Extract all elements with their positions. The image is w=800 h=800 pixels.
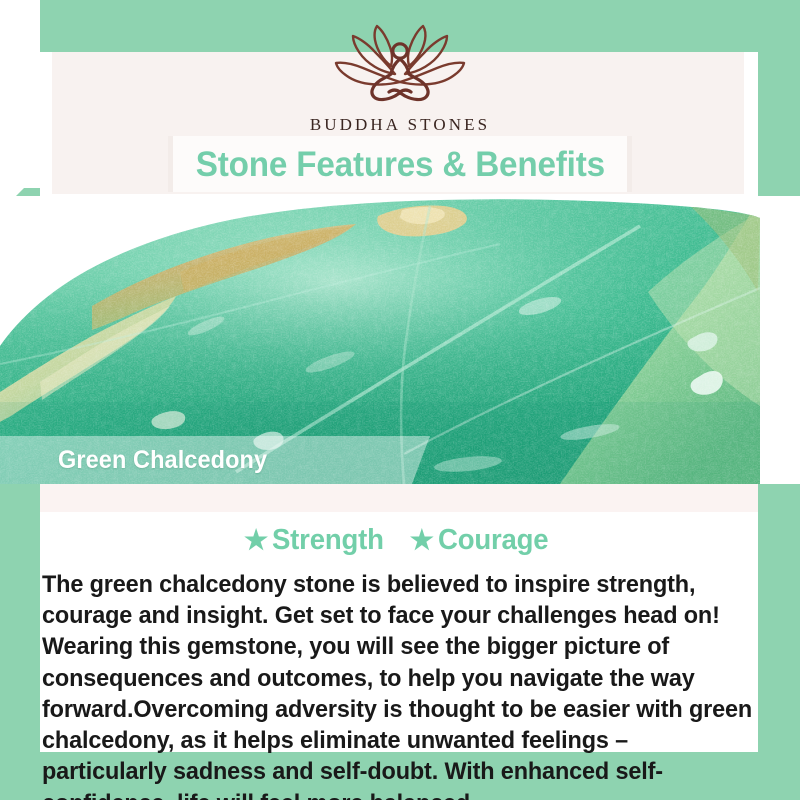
- poster-root: BUDDHA STONES Stone Features & Benefits: [0, 0, 800, 800]
- page-title: Stone Features & Benefits: [195, 147, 604, 182]
- brand-logo: BUDDHA STONES: [0, 22, 800, 135]
- stone-caption: Green Chalcedony: [58, 446, 267, 475]
- banner-edge-right: [627, 136, 632, 192]
- title-banner: Stone Features & Benefits: [168, 136, 632, 192]
- stone-caption-band: Green Chalcedony: [0, 436, 430, 484]
- lotus-meditation-icon: [325, 22, 475, 108]
- banner-edge-left: [168, 136, 173, 192]
- trait-courage: ★ Courage: [410, 526, 554, 555]
- trait-list: ★ Strength ★ Courage: [40, 526, 758, 555]
- trait-strength: ★ Strength: [244, 526, 390, 555]
- description-paragraph: The green chalcedony stone is believed t…: [42, 569, 756, 800]
- gemstone-photo: Green Chalcedony: [0, 196, 800, 484]
- star-icon: ★: [410, 527, 434, 554]
- brand-wordmark: BUDDHA STONES: [310, 115, 490, 135]
- content-panel: ★ Strength ★ Courage The green chalcedon…: [40, 512, 758, 752]
- trait-courage-label: Courage: [438, 526, 548, 555]
- star-icon: ★: [244, 527, 268, 554]
- trait-strength-label: Strength: [272, 526, 384, 555]
- photo-under-strip: [40, 484, 758, 512]
